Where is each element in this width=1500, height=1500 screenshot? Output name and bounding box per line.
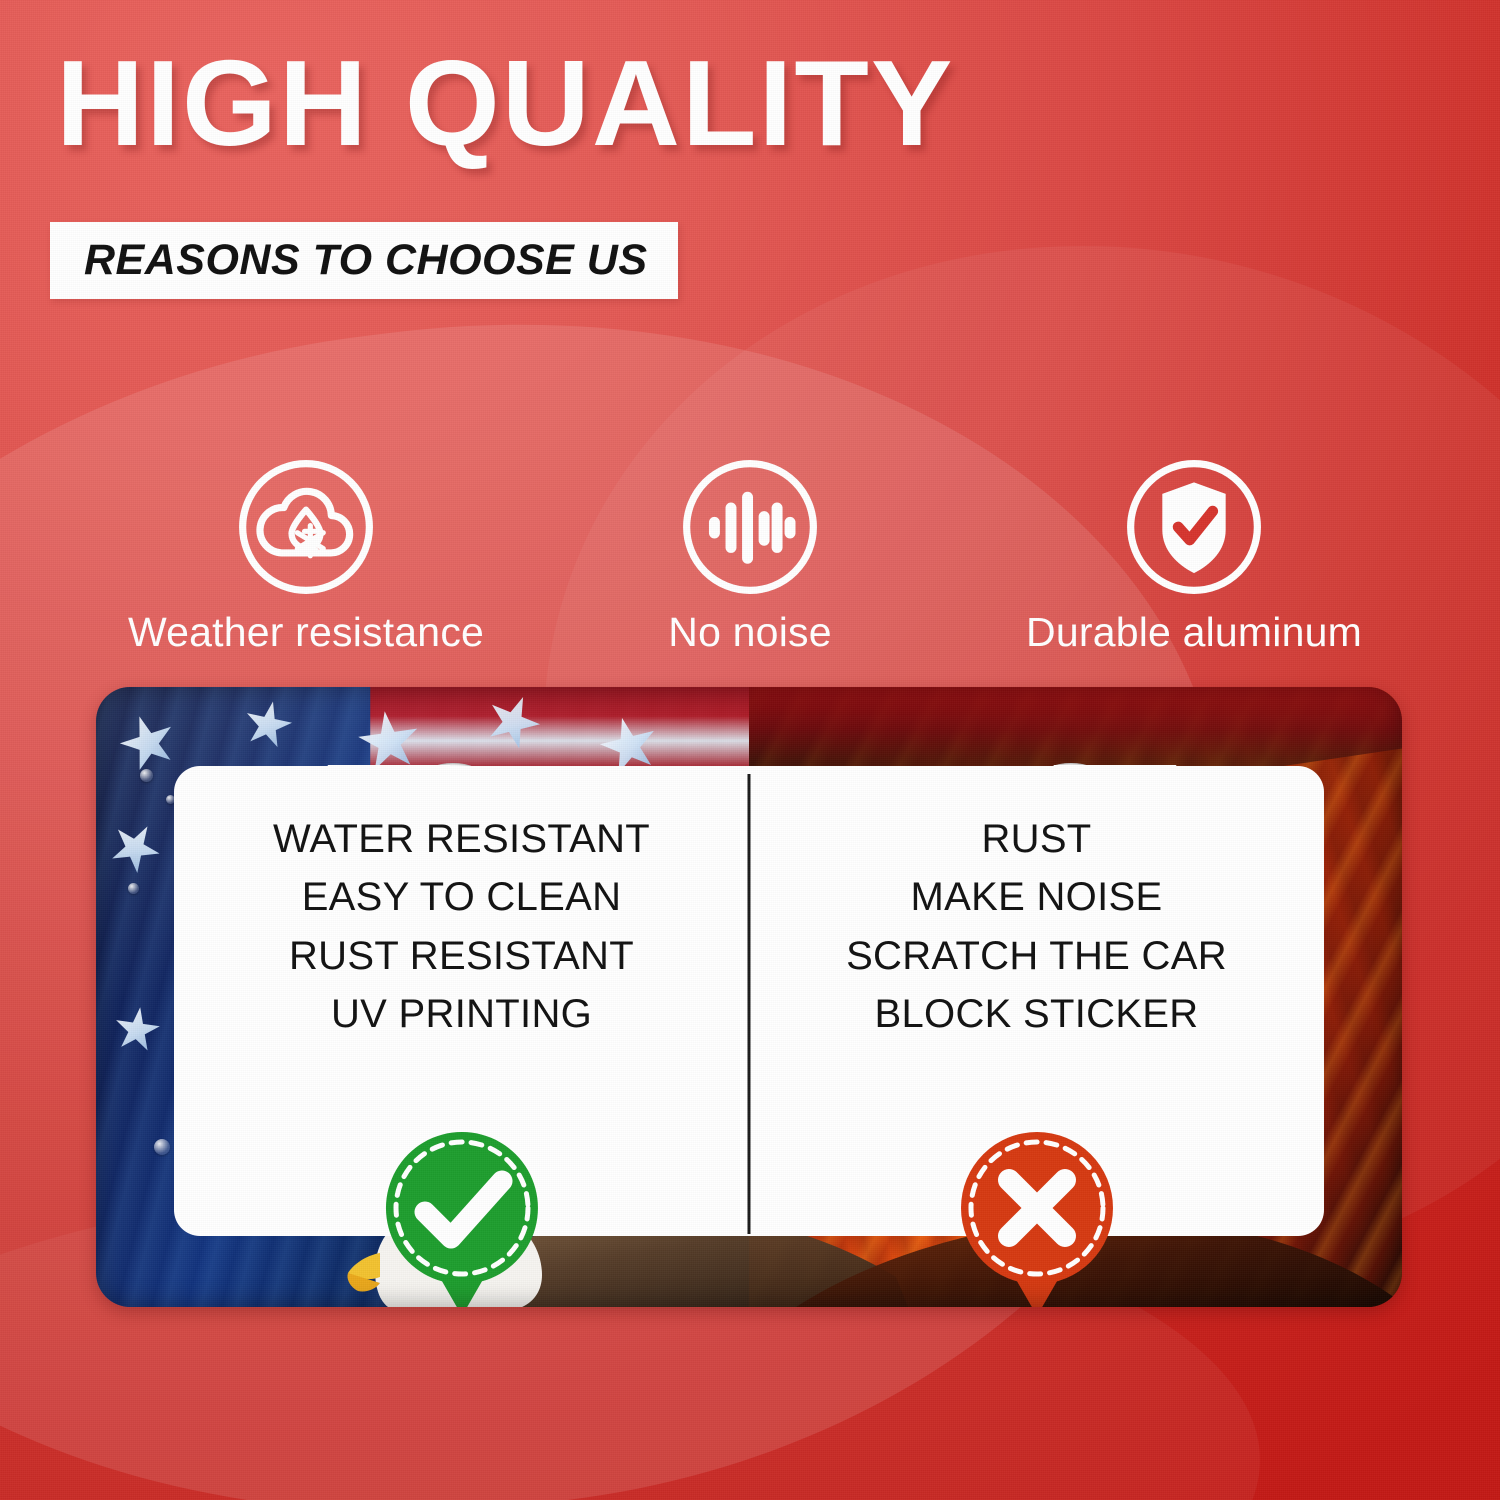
feature-row: Weather resistance No noise (96, 455, 1404, 655)
list-item: EASY TO CLEAN (302, 868, 622, 926)
comparison-panel: WATER RESISTANT EASY TO CLEAN RUST RESIS… (174, 766, 1324, 1236)
subtitle-banner: REASONS TO CHOOSE US (50, 222, 678, 299)
feature-durable-aluminum: Durable aluminum (984, 455, 1404, 656)
feature-weather-resistance: Weather resistance (96, 455, 516, 656)
list-item: MAKE NOISE (911, 868, 1163, 926)
subtitle-text: REASONS TO CHOOSE US (84, 239, 648, 282)
license-plate-frame-product: WATER RESISTANT EASY TO CLEAN RUST RESIS… (96, 687, 1402, 1307)
feature-label: Weather resistance (128, 609, 484, 656)
list-item: RUST RESISTANT (289, 927, 634, 985)
cross-pin-icon (953, 1124, 1121, 1307)
list-item: RUST (981, 810, 1091, 868)
list-item: UV PRINTING (331, 985, 592, 1043)
feature-no-noise: No noise (540, 455, 960, 656)
sound-wave-icon (678, 455, 822, 599)
feature-label: Durable aluminum (1026, 609, 1362, 656)
list-item: BLOCK STICKER (875, 985, 1199, 1043)
check-pin-icon (378, 1124, 546, 1307)
comparison-column-good: WATER RESISTANT EASY TO CLEAN RUST RESIS… (174, 766, 749, 1236)
cloud-rain-snow-icon (234, 455, 378, 599)
shield-check-icon (1122, 455, 1266, 599)
list-item: SCRATCH THE CAR (846, 927, 1227, 985)
feature-label: No noise (668, 609, 831, 656)
comparison-column-bad: RUST MAKE NOISE SCRATCH THE CAR BLOCK ST… (749, 766, 1324, 1236)
list-item: WATER RESISTANT (273, 810, 650, 868)
page-title: HIGH QUALITY (56, 42, 954, 164)
panel-divider (748, 774, 751, 1234)
product-infographic: HIGH QUALITY REASONS TO CHOOSE US Weathe… (0, 0, 1500, 1500)
